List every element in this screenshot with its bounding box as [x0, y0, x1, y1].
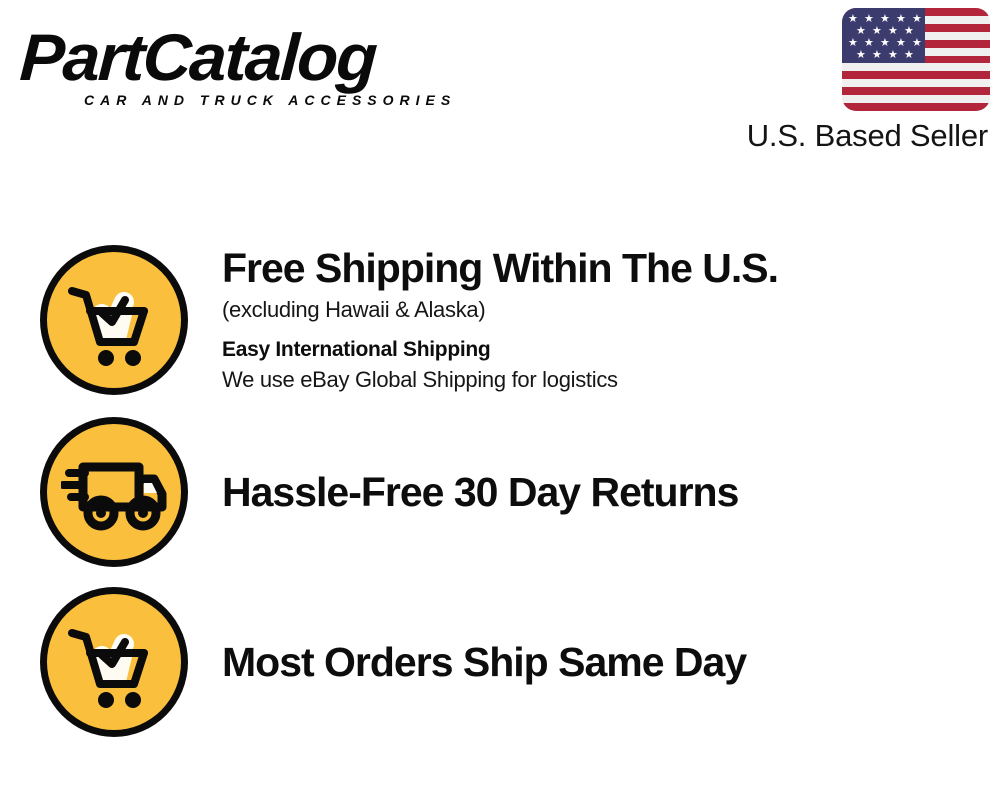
feature-row: Hassle-Free 30 Day Returns [40, 417, 980, 567]
flag-stripe [842, 103, 990, 111]
flag-star: ★ [888, 25, 898, 36]
flag-star: ★ [872, 49, 882, 60]
flag-star: ★ [848, 37, 858, 48]
brand-tagline: CAR AND TRUCK ACCESSORIES [84, 92, 456, 108]
flag-canton: ★ ★ ★ ★ ★ ★ ★ ★ ★ ★ ★ ★ ★ ★ ★ ★ ★ [842, 8, 925, 63]
flag-star: ★ [880, 37, 890, 48]
flag-stripe [842, 87, 990, 95]
flag-star: ★ [904, 25, 914, 36]
flag-star: ★ [888, 49, 898, 60]
shopping-cart-check-icon [40, 587, 188, 737]
feature-text-block: Free Shipping Within The U.S. (excluding… [188, 244, 980, 395]
brand-logo: PartCatalog CAR AND TRUCK ACCESSORIES [22, 22, 492, 117]
shopping-cart-check-icon [40, 245, 188, 395]
flag-star: ★ [872, 25, 882, 36]
flag-star: ★ [848, 13, 858, 24]
feature-title: Most Orders Ship Same Day [222, 638, 980, 686]
feature-text-block: Most Orders Ship Same Day [188, 638, 980, 686]
flag-stripe [842, 63, 990, 71]
flag-star: ★ [912, 13, 922, 24]
feature-row: Most Orders Ship Same Day [40, 587, 980, 737]
feature-sub-heading: Easy International Shipping [222, 335, 980, 365]
feature-sub-note: We use eBay Global Shipping for logistic… [222, 365, 980, 395]
us-flag-icon: ★ ★ ★ ★ ★ ★ ★ ★ ★ ★ ★ ★ ★ ★ ★ ★ ★ [842, 8, 990, 111]
flag-star: ★ [864, 13, 874, 24]
flag-star: ★ [912, 37, 922, 48]
feature-row: Free Shipping Within The U.S. (excluding… [40, 244, 980, 395]
banner-header: PartCatalog CAR AND TRUCK ACCESSORIES ★ [0, 0, 1000, 175]
flag-stripe [842, 79, 990, 87]
flag-star: ★ [904, 49, 914, 60]
feature-title: Hassle-Free 30 Day Returns [222, 468, 980, 516]
feature-subtitle: (excluding Hawaii & Alaska) [222, 295, 980, 325]
flag-star: ★ [896, 37, 906, 48]
promo-banner-page: PartCatalog CAR AND TRUCK ACCESSORIES ★ [0, 0, 1000, 800]
flag-star: ★ [856, 25, 866, 36]
delivery-truck-icon [40, 417, 188, 567]
flag-stripe [842, 95, 990, 103]
feature-text-block: Hassle-Free 30 Day Returns [188, 468, 980, 516]
flag-star: ★ [864, 37, 874, 48]
us-based-seller-label: U.S. Based Seller [720, 118, 990, 154]
flag-star: ★ [880, 13, 890, 24]
flag-stripe [842, 71, 990, 79]
brand-wordmark: PartCatalog [18, 22, 501, 92]
feature-title: Free Shipping Within The U.S. [222, 244, 980, 292]
flag-star: ★ [856, 49, 866, 60]
us-based-seller-badge: ★ ★ ★ ★ ★ ★ ★ ★ ★ ★ ★ ★ ★ ★ ★ ★ ★ [720, 8, 990, 154]
flag-star: ★ [896, 13, 906, 24]
